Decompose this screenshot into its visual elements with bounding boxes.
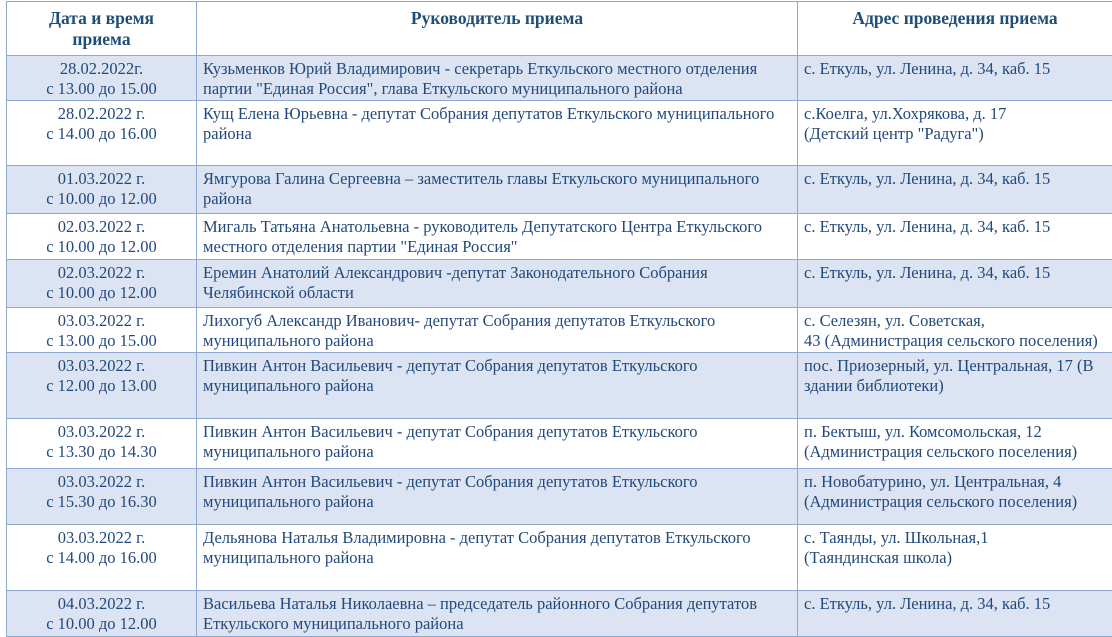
cell-date-time: 03.03.2022 г. с 15.30 до 16.30 bbox=[7, 469, 197, 525]
table-row: 28.02.2022г. с 13.00 до 15.00Кузьменков … bbox=[7, 56, 1112, 101]
reception-schedule-table: Дата и время приема Руководитель приема … bbox=[6, 1, 1112, 637]
table-body: 28.02.2022г. с 13.00 до 15.00Кузьменков … bbox=[7, 56, 1112, 637]
table-row: 01.03.2022 г. с 10.00 до 12.00Ямгурова Г… bbox=[7, 166, 1112, 214]
cell-host: Пивкин Антон Васильевич - депутат Собран… bbox=[197, 469, 798, 525]
cell-address: пос. Приозерный, ул. Центральная, 17 (В … bbox=[798, 353, 1112, 419]
cell-address: п. Новобатурино, ул. Центральная, 4 (Адм… bbox=[798, 469, 1112, 525]
cell-date-time: 03.03.2022 г. с 13.30 до 14.30 bbox=[7, 419, 197, 469]
cell-date-time: 02.03.2022 г. с 10.00 до 12.00 bbox=[7, 260, 197, 308]
cell-address: с. Селезян, ул. Советская, 43 (Администр… bbox=[798, 308, 1112, 353]
cell-host: Лихогуб Александр Иванович- депутат Собр… bbox=[197, 308, 798, 353]
cell-host: Ямгурова Галина Сергеевна – заместитель … bbox=[197, 166, 798, 214]
column-header-host: Руководитель приема bbox=[197, 2, 798, 56]
table-row: 03.03.2022 г. с 14.00 до 16.00Дельянова … bbox=[7, 525, 1112, 591]
cell-address: с. Еткуль, ул. Ленина, д. 34, каб. 15 bbox=[798, 166, 1112, 214]
table-row: 03.03.2022 г. с 13.00 до 15.00Лихогуб Ал… bbox=[7, 308, 1112, 353]
document-page: Дата и время приема Руководитель приема … bbox=[0, 0, 1112, 630]
cell-host: Кущ Елена Юрьевна - депутат Собрания деп… bbox=[197, 101, 798, 166]
table-row: 28.02.2022 г. с 14.00 до 16.00Кущ Елена … bbox=[7, 101, 1112, 166]
table-row: 02.03.2022 г. с 10.00 до 12.00Еремин Ана… bbox=[7, 260, 1112, 308]
cell-address: с.Коелга, ул.Хохрякова, д. 17 (Детский ц… bbox=[798, 101, 1112, 166]
table-row: 02.03.2022 г. с 10.00 до 12.00Мигаль Тат… bbox=[7, 214, 1112, 260]
table-row: 03.03.2022 г. с 12.00 до 13.00Пивкин Ант… bbox=[7, 353, 1112, 419]
cell-address: с. Таянды, ул. Школьная,1 (Таяндинская ш… bbox=[798, 525, 1112, 591]
cell-host: Пивкин Антон Васильевич - депутат Собран… bbox=[197, 419, 798, 469]
cell-host: Мигаль Татьяна Анатольевна - руководител… bbox=[197, 214, 798, 260]
table-row: 03.03.2022 г. с 13.30 до 14.30Пивкин Ант… bbox=[7, 419, 1112, 469]
cell-host: Кузьменков Юрий Владимирович - секретарь… bbox=[197, 56, 798, 101]
header-row: Дата и время приема Руководитель приема … bbox=[7, 2, 1112, 56]
table-row: 03.03.2022 г. с 15.30 до 16.30Пивкин Ант… bbox=[7, 469, 1112, 525]
cell-date-time: 03.03.2022 г. с 14.00 до 16.00 bbox=[7, 525, 197, 591]
cell-date-time: 28.02.2022г. с 13.00 до 15.00 bbox=[7, 56, 197, 101]
cell-host: Дельянова Наталья Владимировна - депутат… bbox=[197, 525, 798, 591]
cell-host: Еремин Анатолий Александрович -депутат З… bbox=[197, 260, 798, 308]
cell-date-time: 02.03.2022 г. с 10.00 до 12.00 bbox=[7, 214, 197, 260]
cell-address: п. Бектыш, ул. Комсомольская, 12 (Админи… bbox=[798, 419, 1112, 469]
cell-address: с. Еткуль, ул. Ленина, д. 34, каб. 15 bbox=[798, 214, 1112, 260]
cell-address: с. Еткуль, ул. Ленина, д. 34, каб. 15 bbox=[798, 56, 1112, 101]
cell-date-time: 03.03.2022 г. с 13.00 до 15.00 bbox=[7, 308, 197, 353]
column-header-date: Дата и время приема bbox=[7, 2, 197, 56]
cell-date-time: 28.02.2022 г. с 14.00 до 16.00 bbox=[7, 101, 197, 166]
cell-date-time: 01.03.2022 г. с 10.00 до 12.00 bbox=[7, 166, 197, 214]
cell-address: с. Еткуль, ул. Ленина, д. 34, каб. 15 bbox=[798, 260, 1112, 308]
table-header: Дата и время приема Руководитель приема … bbox=[7, 2, 1112, 56]
column-header-address: Адрес проведения приема bbox=[798, 2, 1112, 56]
cell-date-time: 03.03.2022 г. с 12.00 до 13.00 bbox=[7, 353, 197, 419]
cell-host: Пивкин Антон Васильевич - депутат Собран… bbox=[197, 353, 798, 419]
